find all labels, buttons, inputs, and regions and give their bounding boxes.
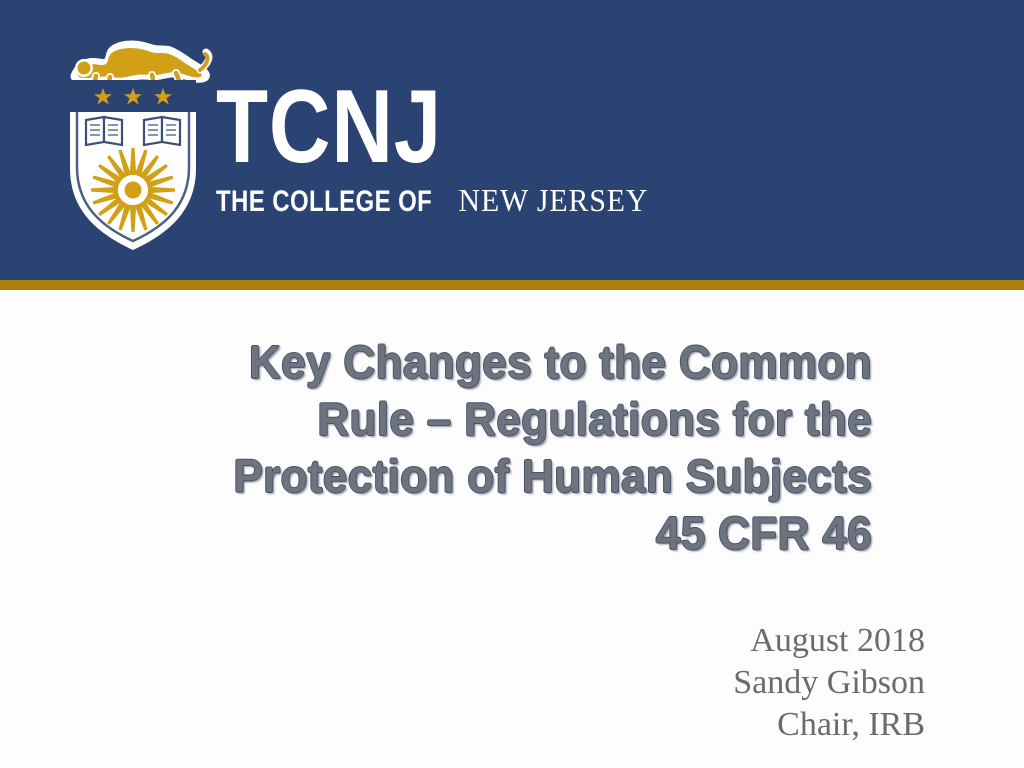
- open-book-icon-right: [144, 117, 180, 145]
- title-line-2: Rule – Regulations for the: [127, 391, 872, 448]
- tagline-new-jersey: NEW JERSEY: [459, 182, 649, 219]
- gold-divider-bar: [0, 280, 1024, 290]
- subtitle-date: August 2018: [525, 620, 925, 662]
- open-book-icon-left: [86, 117, 122, 145]
- wordmark-tagline: THE COLLEGE OF NEW JERSEY: [216, 182, 579, 219]
- subtitle-presenter: Sandy Gibson: [525, 662, 925, 704]
- tcnj-wordmark: TCNJ THE COLLEGE OF NEW JERSEY: [216, 80, 606, 240]
- tagline-the-college-of: THE COLLEGE OF: [216, 185, 432, 219]
- title-line-3: Protection of Human Subjects: [127, 448, 872, 505]
- tcnj-crest-icon: [48, 18, 218, 250]
- presentation-slide: TCNJ THE COLLEGE OF NEW JERSEY Key Chang…: [0, 0, 1024, 768]
- tcnj-logo: TCNJ THE COLLEGE OF NEW JERSEY: [48, 18, 608, 250]
- title-line-4: 45 CFR 46: [127, 505, 872, 562]
- title-line-1: Key Changes to the Common: [127, 334, 872, 391]
- slide-subtitle: August 2018 Sandy Gibson Chair, IRB: [525, 620, 925, 746]
- slide-title: Key Changes to the Common Rule – Regulat…: [96, 334, 872, 562]
- wordmark-tcnj: TCNJ: [216, 80, 536, 176]
- subtitle-role: Chair, IRB: [525, 704, 925, 746]
